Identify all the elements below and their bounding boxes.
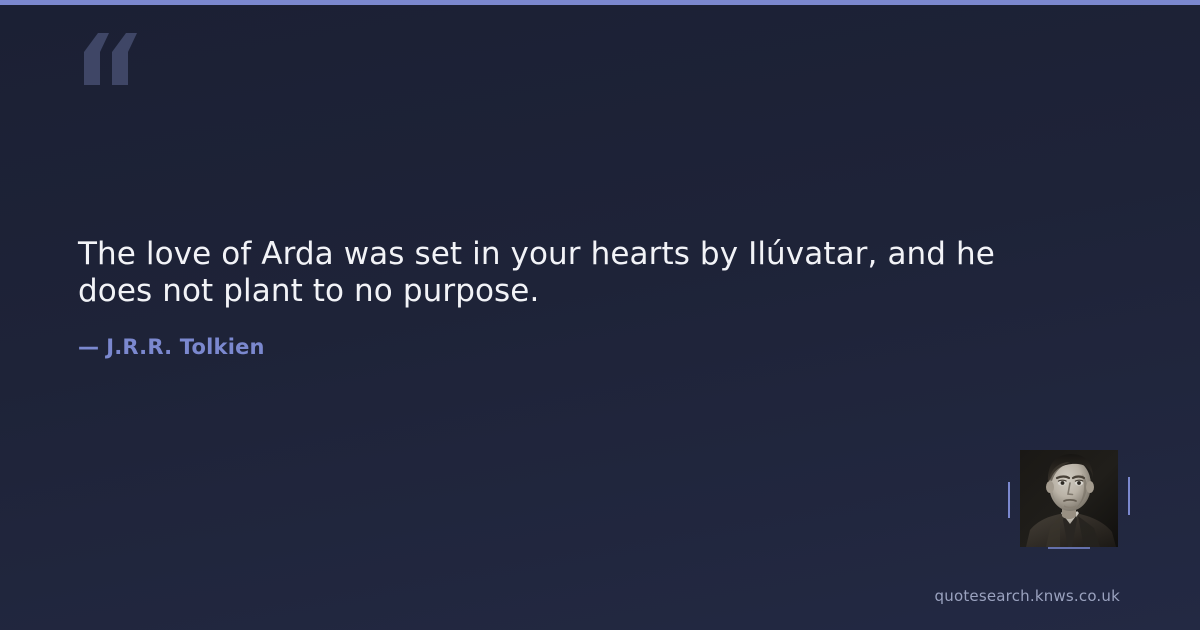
- attribution-dash: —: [78, 335, 106, 359]
- quote-card: The love of Arda was set in your hearts …: [0, 0, 1200, 630]
- author-portrait: [1020, 450, 1118, 547]
- author-name: J.R.R. Tolkien: [106, 335, 265, 359]
- author-portrait-group: [1020, 450, 1118, 547]
- portrait-rule-right: [1128, 477, 1130, 515]
- top-accent-bar: [0, 0, 1200, 5]
- quote-attribution: —J.R.R. Tolkien: [78, 310, 1008, 359]
- source-url: quotesearch.knws.co.uk: [935, 587, 1120, 605]
- portrait-rule-left: [1008, 482, 1010, 518]
- double-quote-open-icon: [78, 33, 142, 85]
- quote-text: The love of Arda was set in your hearts …: [78, 236, 1008, 310]
- quote-block: The love of Arda was set in your hearts …: [78, 236, 1008, 359]
- portrait-rule-bottom: [1048, 547, 1090, 549]
